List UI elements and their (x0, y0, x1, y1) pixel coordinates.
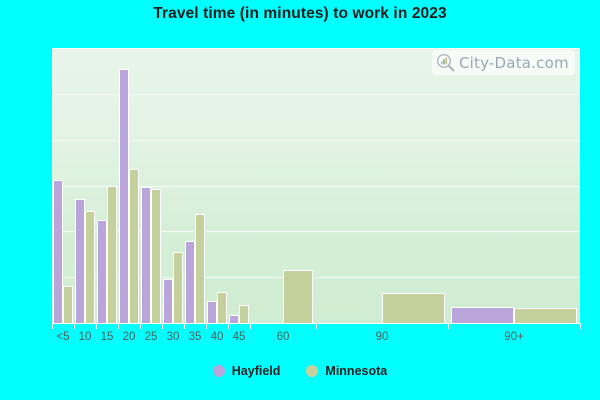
bar-minnesota-15[interactable] (107, 186, 117, 323)
bar-hayfield-30[interactable] (163, 279, 173, 323)
x-axis-label-40: 40 (211, 331, 224, 343)
bar-hayfield-45[interactable] (229, 315, 239, 323)
magnifier-bar-chart-icon (436, 53, 455, 72)
legend-label: Hayfield (232, 364, 281, 378)
x-axis-label-45: 45 (233, 331, 246, 343)
x-axis-tick (184, 323, 185, 329)
bar-minnesota-30[interactable] (173, 252, 183, 324)
x-axis-label-20: 20 (123, 331, 136, 343)
x-axis-tick (448, 323, 449, 329)
x-axis-tick (228, 323, 229, 329)
bar-minnesota-20[interactable] (129, 169, 139, 323)
bar-minnesota-<5[interactable] (63, 286, 73, 323)
bar-hayfield-20[interactable] (119, 69, 129, 323)
x-axis-tick (96, 323, 97, 329)
x-axis-tick (316, 323, 317, 329)
bar-minnesota-45[interactable] (239, 305, 249, 323)
x-axis-tick (580, 323, 581, 329)
x-axis-tick (140, 323, 141, 329)
x-axis-tick (206, 323, 207, 329)
bar-hayfield-15[interactable] (97, 220, 107, 323)
bar-minnesota-90+[interactable] (514, 308, 577, 323)
x-axis-label-10: 10 (79, 331, 92, 343)
bar-hayfield-35[interactable] (185, 241, 195, 323)
x-axis-label-60: 60 (277, 331, 290, 343)
bar-minnesota-40[interactable] (217, 292, 227, 323)
chart-title: Travel time (in minutes) to work in 2023 (0, 5, 600, 23)
bar-minnesota-60[interactable] (283, 270, 313, 323)
bar-minnesota-25[interactable] (151, 189, 161, 323)
legend-label: Minnesota (325, 364, 387, 378)
x-axis-label-30: 30 (167, 331, 180, 343)
watermark[interactable]: City-Data.com (432, 50, 575, 75)
bar-hayfield-40[interactable] (207, 301, 217, 323)
x-axis-tick (162, 323, 163, 329)
bar-hayfield-25[interactable] (141, 187, 151, 323)
bar-minnesota-10[interactable] (85, 211, 95, 323)
bar-minnesota-35[interactable] (195, 214, 205, 323)
x-axis-tick (52, 323, 53, 329)
x-axis-label-90: 90 (376, 331, 389, 343)
x-axis-tick (118, 323, 119, 329)
x-axis-tick (74, 323, 75, 329)
x-axis-label-<5: <5 (56, 331, 69, 343)
legend-swatch-icon (213, 365, 225, 377)
bar-hayfield-<5[interactable] (53, 180, 63, 323)
bar-minnesota-90[interactable] (382, 293, 445, 323)
x-axis-label-25: 25 (145, 331, 158, 343)
bar-hayfield-90+[interactable] (451, 307, 514, 324)
chart-legend: HayfieldMinnesota (0, 364, 600, 378)
bar-group-container (52, 48, 580, 323)
watermark-text: City-Data.com (459, 54, 569, 72)
x-axis-tick (250, 323, 251, 329)
bar-hayfield-10[interactable] (75, 199, 85, 323)
plot-area (52, 48, 580, 323)
x-axis-label-90+: 90+ (504, 331, 524, 343)
x-axis-label-15: 15 (101, 331, 114, 343)
legend-item-hayfield[interactable]: Hayfield (213, 364, 281, 378)
x-axis-label-35: 35 (189, 331, 202, 343)
chart-container: Travel time (in minutes) to work in 2023… (0, 0, 600, 400)
legend-swatch-icon (306, 365, 318, 377)
legend-item-minnesota[interactable]: Minnesota (306, 364, 387, 378)
